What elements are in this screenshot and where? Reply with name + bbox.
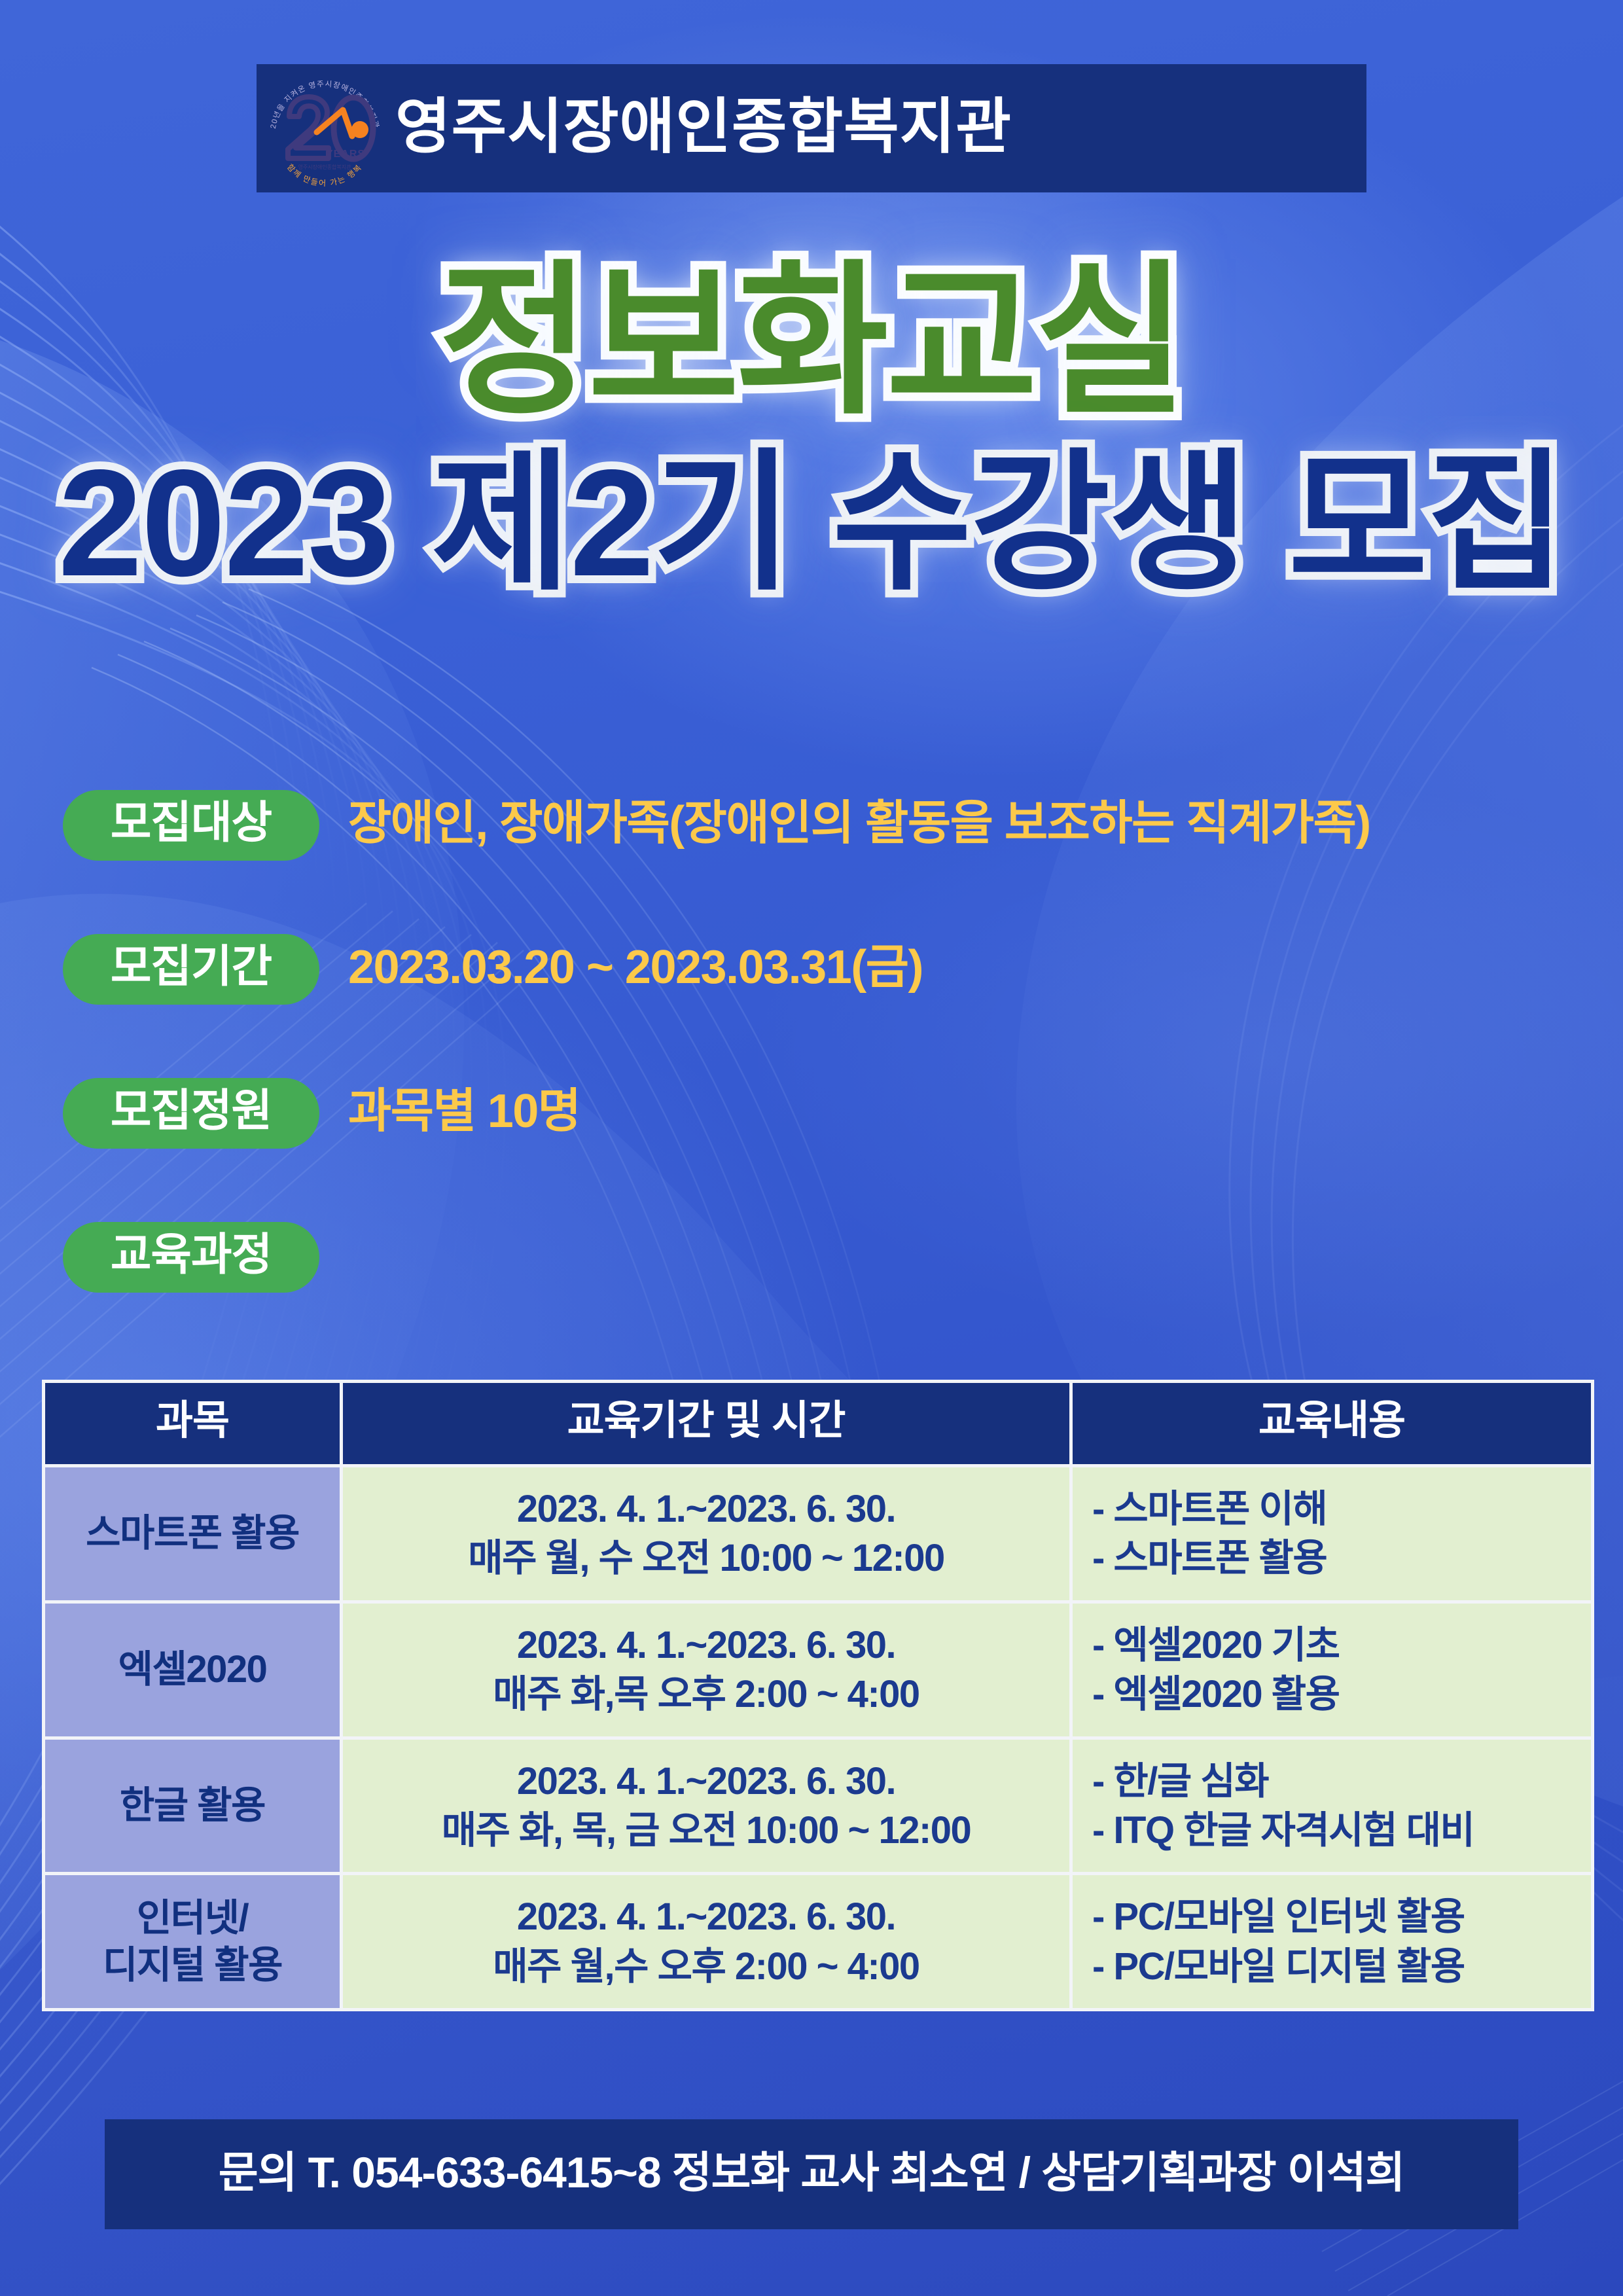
label-pill-curriculum: 교육과정 <box>63 1222 319 1293</box>
cell-period: 2023. 4. 1.~2023. 6. 30. 매주 화,목 오후 2:00 … <box>343 1604 1069 1736</box>
cell-subject: 스마트폰 활용 <box>45 1467 340 1600</box>
info-row-capacity: 모집정원 과목별 10명 <box>63 1077 1568 1150</box>
cell-period-line2: 매주 화,목 오후 2:00 ~ 4:00 <box>355 1670 1058 1719</box>
table-header-subject: 과목 <box>45 1383 340 1464</box>
cell-content: - 스마트폰 이해 - 스마트폰 활용 <box>1073 1467 1591 1600</box>
label-pill-curriculum-text: 교육과정 <box>111 1232 272 1282</box>
poster-title: 정보화교실 2023 제2기 수강생 모집 <box>0 257 1623 603</box>
table-header-period: 교육기간 및 시간 <box>343 1383 1069 1464</box>
cell-subject-line2: 디지털 활용 <box>50 1942 334 1989</box>
header-banner: 20년을 지켜온 영주시장애인종합복지관 함께 만들어 가는 행복 YEARS … <box>257 64 1366 192</box>
organization-name: 영주시장애인종합복지관 <box>395 97 1012 160</box>
contact-info-text: 문의 T. 054-633-6415~8 정보화 교사 최소연 / 상담기획과장… <box>219 2151 1404 2198</box>
cell-subject: 엑셀2020 <box>45 1604 340 1736</box>
table-header-content-text: 교육내용 <box>1258 1401 1405 1446</box>
cell-period-line1: 2023. 4. 1.~2023. 6. 30. <box>355 1757 1058 1806</box>
info-section: 모집대상 장애인, 장애가족(장애인의 활동을 보조하는 직계가족) 모집기간 … <box>63 789 1568 1350</box>
cell-content: - 엑셀2020 기초 - 엑셀2020 활용 <box>1073 1604 1591 1736</box>
course-table-wrapper: 과목 교육기간 및 시간 교육내용 스마트폰 활용 2023. 4. 1.~20… <box>42 1380 1581 2011</box>
cell-period-line2: 매주 화, 목, 금 오전 10:00 ~ 12:00 <box>355 1806 1058 1855</box>
label-pill-capacity: 모집정원 <box>63 1078 319 1149</box>
label-pill-capacity-text: 모집정원 <box>111 1088 272 1138</box>
table-header-row: 과목 교육기간 및 시간 교육내용 <box>45 1383 1591 1464</box>
cell-period-line1: 2023. 4. 1.~2023. 6. 30. <box>355 1621 1058 1670</box>
cell-content-line1: - PC/모바일 인터넷 활용 <box>1092 1892 1579 1941</box>
cell-content-line1: - 엑셀2020 기초 <box>1092 1621 1579 1670</box>
table-row: 인터넷/ 디지털 활용 2023. 4. 1.~2023. 6. 30. 매주 … <box>45 1875 1591 2008</box>
table-row: 엑셀2020 2023. 4. 1.~2023. 6. 30. 매주 화,목 오… <box>45 1604 1591 1736</box>
cell-subject-line1: 한글 활용 <box>50 1782 334 1829</box>
contact-footer-bar: 문의 T. 054-633-6415~8 정보화 교사 최소연 / 상담기획과장… <box>105 2119 1518 2229</box>
cell-subject: 인터넷/ 디지털 활용 <box>45 1875 340 2008</box>
cell-content: - PC/모바일 인터넷 활용 - PC/모바일 디지털 활용 <box>1073 1875 1591 2008</box>
cell-subject-line1: 인터넷/ <box>50 1895 334 1942</box>
anniversary-20-years-logo: 20년을 지켜온 영주시장애인종합복지관 함께 만들어 가는 행복 YEARS … <box>257 64 395 192</box>
cell-content: - 한/글 심화 - ITQ 한글 자격시험 대비 <box>1073 1740 1591 1873</box>
cell-subject-line1: 스마트폰 활용 <box>50 1510 334 1557</box>
svg-text:영주시장애인종합복지관: 영주시장애인종합복지관 <box>298 164 352 170</box>
label-pill-period: 모집기간 <box>63 934 319 1005</box>
cell-content-line2: - 엑셀2020 활용 <box>1092 1670 1579 1719</box>
cell-content-line2: - PC/모바일 디지털 활용 <box>1092 1942 1579 1991</box>
cell-period: 2023. 4. 1.~2023. 6. 30. 매주 화, 목, 금 오전 1… <box>343 1740 1069 1873</box>
cell-period: 2023. 4. 1.~2023. 6. 30. 매주 월, 수 오전 10:0… <box>343 1467 1069 1600</box>
info-value-capacity: 과목별 10명 <box>348 1088 580 1139</box>
table-row: 스마트폰 활용 2023. 4. 1.~2023. 6. 30. 매주 월, 수… <box>45 1467 1591 1600</box>
cell-content-line1: - 스마트폰 이해 <box>1092 1484 1579 1534</box>
cell-content-line1: - 한/글 심화 <box>1092 1757 1579 1806</box>
info-row-curriculum: 교육과정 <box>63 1221 1568 1294</box>
cell-subject: 한글 활용 <box>45 1740 340 1873</box>
table-header-subject-text: 과목 <box>156 1401 229 1446</box>
course-table: 과목 교육기간 및 시간 교육내용 스마트폰 활용 2023. 4. 1.~20… <box>42 1380 1594 2011</box>
table-header-content: 교육내용 <box>1073 1383 1591 1464</box>
label-pill-target: 모집대상 <box>63 790 319 861</box>
info-value-period: 2023.03.20 ~ 2023.03.31(금) <box>348 944 923 995</box>
cell-content-line2: - 스마트폰 활용 <box>1092 1534 1579 1583</box>
cell-period-line2: 매주 월, 수 오전 10:00 ~ 12:00 <box>355 1534 1058 1583</box>
cell-period: 2023. 4. 1.~2023. 6. 30. 매주 월,수 오후 2:00 … <box>343 1875 1069 2008</box>
title-line-recruitment: 2023 제2기 수강생 모집 <box>0 444 1623 603</box>
title-line-program: 정보화교실 <box>0 257 1623 427</box>
info-value-target: 장애인, 장애가족(장애인의 활동을 보조하는 직계가족) <box>348 800 1370 851</box>
svg-text:YEARS: YEARS <box>326 149 365 160</box>
cell-subject-line1: 엑셀2020 <box>50 1646 334 1693</box>
info-row-period: 모집기간 2023.03.20 ~ 2023.03.31(금) <box>63 933 1568 1006</box>
label-pill-period-text: 모집기간 <box>111 944 272 994</box>
table-header-period-text: 교육기간 및 시간 <box>567 1401 846 1446</box>
table-row: 한글 활용 2023. 4. 1.~2023. 6. 30. 매주 화, 목, … <box>45 1740 1591 1873</box>
cell-period-line2: 매주 월,수 오후 2:00 ~ 4:00 <box>355 1942 1058 1991</box>
info-row-target: 모집대상 장애인, 장애가족(장애인의 활동을 보조하는 직계가족) <box>63 789 1568 862</box>
cell-period-line1: 2023. 4. 1.~2023. 6. 30. <box>355 1892 1058 1941</box>
cell-content-line2: - ITQ 한글 자격시험 대비 <box>1092 1806 1579 1855</box>
cell-period-line1: 2023. 4. 1.~2023. 6. 30. <box>355 1484 1058 1534</box>
poster-root: 20년을 지켜온 영주시장애인종합복지관 함께 만들어 가는 행복 YEARS … <box>0 0 1623 2296</box>
label-pill-target-text: 모집대상 <box>111 800 272 850</box>
